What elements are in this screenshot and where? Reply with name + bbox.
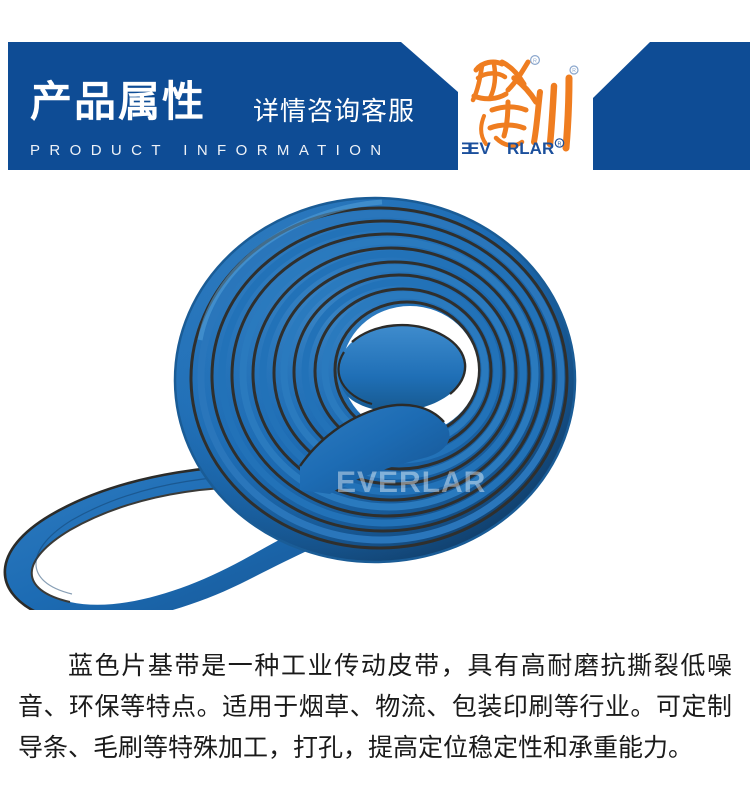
svg-text:R: R (572, 68, 576, 74)
svg-text:R: R (533, 59, 537, 65)
svg-text:R: R (558, 141, 562, 147)
page-header: 产品属性 详情咨询客服 PRODUCT INFORMATION (0, 0, 750, 190)
belt-coil-illustration (0, 190, 750, 610)
product-photo: EVERLAR (0, 190, 750, 610)
svg-text:RLAR: RLAR (507, 139, 554, 158)
product-description: 蓝色片基带是一种工业传动皮带，具有高耐磨抗撕裂低噪音、环保等特点。适用于烟草、物… (18, 645, 732, 768)
page-title: 产品属性 (30, 78, 206, 126)
belt-coil (175, 198, 575, 562)
svg-text:E: E (462, 139, 472, 158)
header-banner-right (593, 42, 750, 170)
page-title-english: PRODUCT INFORMATION (30, 141, 391, 161)
header-subtitle: 详情咨询客服 (253, 96, 415, 126)
brand-logo: R R EV E RLAR R (462, 44, 582, 166)
